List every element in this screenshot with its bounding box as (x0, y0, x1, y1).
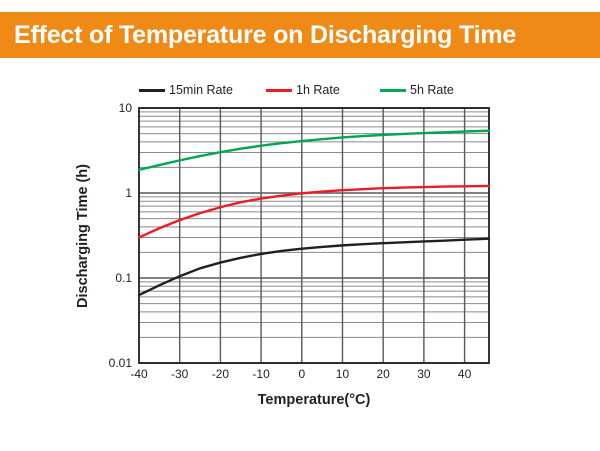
y-tick-label: 0.1 (115, 271, 132, 285)
grid-major-x-lines (180, 108, 465, 363)
x-tick-label: 30 (417, 367, 431, 381)
y-tick-labels: 0.010.1110 (109, 101, 133, 370)
y-axis-title: Discharging Time (h) (75, 164, 91, 308)
chart-page: Effect of Temperature on Discharging Tim… (0, 0, 600, 451)
grid-major-y-lines (139, 108, 489, 363)
plot-frame (139, 108, 489, 363)
x-tick-label: 40 (458, 367, 472, 381)
chart-plot: -40-30-20-10010203040 0.010.1110 Tempera… (0, 0, 600, 451)
y-tick-label: 1 (125, 186, 132, 200)
x-tick-labels: -40-30-20-10010203040 (130, 367, 471, 381)
series-paths (139, 131, 489, 295)
x-tick-label: 10 (336, 367, 350, 381)
grid-minor-lines (139, 112, 489, 338)
x-tick-label: 0 (298, 367, 305, 381)
x-tick-label: -20 (212, 367, 230, 381)
y-tick-label: 0.01 (109, 356, 133, 370)
x-axis-title: Temperature(°C) (258, 392, 371, 408)
x-tick-label: 20 (377, 367, 391, 381)
y-tick-label: 10 (119, 101, 133, 115)
x-tick-label: -10 (252, 367, 270, 381)
x-tick-label: -30 (171, 367, 189, 381)
x-tick-label: -40 (130, 367, 148, 381)
